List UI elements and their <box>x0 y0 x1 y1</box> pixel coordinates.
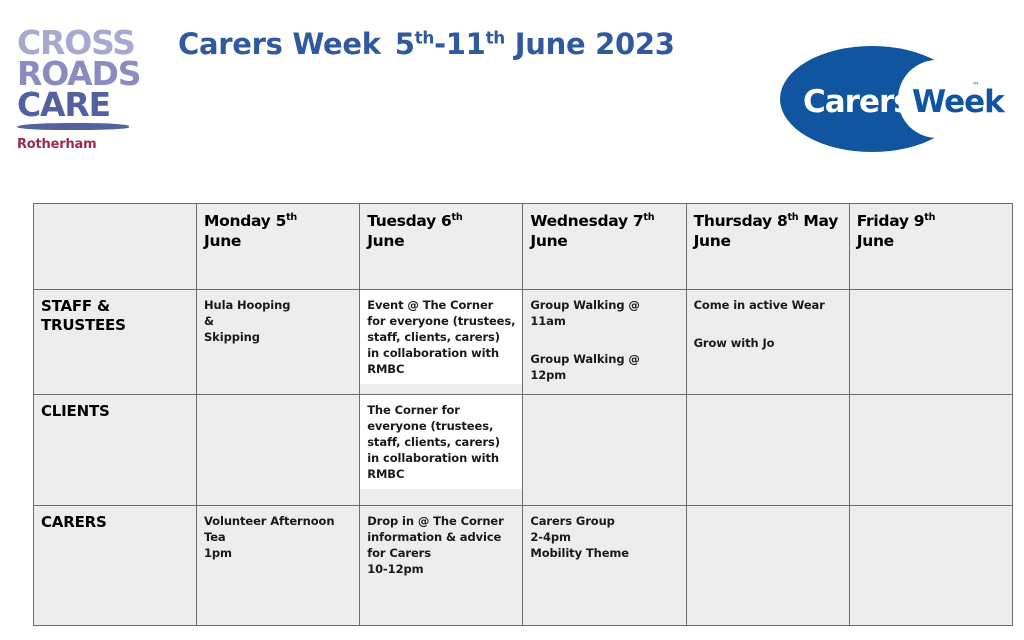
row-category-staff-trustees: STAFF & TRUSTEES <box>34 290 197 395</box>
cell-clients-friday <box>849 395 1012 506</box>
cell-staff-thursday: Come in active Wear Grow with Jo <box>686 290 849 395</box>
cell-text-highlighted: Event @ The Corner for everyone (trustee… <box>360 289 522 384</box>
header-day-month: June <box>857 232 894 250</box>
page-title-main: Carers Week <box>178 27 381 61</box>
cell-carers-wednesday: Carers Group 2-4pm Mobility Theme <box>523 506 686 626</box>
cell-text-secondary: Grow with Jo <box>694 336 775 350</box>
header-day-date: 8 <box>777 212 788 230</box>
header-day-month: June <box>367 232 404 250</box>
logo-text-rotherham: Rotherham <box>17 137 157 152</box>
logo-brushstroke-divider <box>17 123 129 130</box>
carers-week-logo-text-carers: Carers <box>803 84 911 120</box>
cell-text-highlighted: The Corner for everyone (trustees, staff… <box>360 394 522 489</box>
header-cell-friday: Friday 9thJune <box>849 204 1012 290</box>
cell-staff-tuesday: Event @ The Corner for everyone (trustee… <box>360 290 523 395</box>
header-day-month: June <box>530 232 567 250</box>
cell-staff-friday <box>849 290 1012 395</box>
header-day-name: Thursday <box>694 212 772 230</box>
logo-text-care: CARE <box>17 89 157 120</box>
header-cell-thursday: Thursday 8th May June <box>686 204 849 290</box>
header-day-name: Monday <box>204 212 271 230</box>
table-row-clients: CLIENTS The Corner for everyone (trustee… <box>34 395 1013 506</box>
page-title-date-end-ordinal: th <box>486 27 505 47</box>
table-row-carers: CARERS Volunteer Afternoon Tea 1pm Drop … <box>34 506 1013 626</box>
cell-staff-monday: Hula Hooping & Skipping <box>197 290 360 395</box>
cell-carers-monday: Volunteer Afternoon Tea 1pm <box>197 506 360 626</box>
header-day-ordinal: th <box>787 212 798 223</box>
carers-week-logo-text-week: Week <box>912 84 1004 120</box>
header-cell-tuesday: Tuesday 6thJune <box>360 204 523 290</box>
cell-text-secondary: Group Walking @ 12pm <box>530 352 639 382</box>
header-day-ordinal: th <box>643 212 654 223</box>
cell-text: Group Walking @ 11am <box>530 298 639 328</box>
page-title: Carers Week5th-11th June 2023 <box>178 27 675 61</box>
cell-carers-tuesday: Drop in @ The Corner information & advic… <box>360 506 523 626</box>
page-title-date-tail: June 2023 <box>505 27 675 61</box>
header-day-date: 7 <box>633 212 644 230</box>
carers-week-logo: Carers Week ™ <box>760 38 1000 160</box>
row-category-clients: CLIENTS <box>34 395 197 506</box>
header-day-date: 9 <box>914 212 925 230</box>
cell-text: Carers Group 2-4pm Mobility Theme <box>530 514 629 560</box>
header-day-name: Wednesday <box>530 212 627 230</box>
table-header-row: Monday 5thJune Tuesday 6thJune Wednesday… <box>34 204 1013 290</box>
header-cell-blank <box>34 204 197 290</box>
cell-text: Volunteer Afternoon Tea 1pm <box>204 514 334 560</box>
header-cell-wednesday: Wednesday 7thJune <box>523 204 686 290</box>
page-title-date-start-ordinal: th <box>415 27 434 47</box>
cell-clients-tuesday: The Corner for everyone (trustees, staff… <box>360 395 523 506</box>
cell-spacer <box>530 329 678 351</box>
cell-spacer <box>694 313 842 335</box>
carers-week-schedule-table: Monday 5thJune Tuesday 6thJune Wednesday… <box>33 203 1013 626</box>
crossroads-care-logo: CROSS ROADS CARE Rotherham <box>17 27 157 160</box>
table-row-staff-trustees: STAFF & TRUSTEES Hula Hooping & Skipping… <box>34 290 1013 395</box>
page-title-date-sep: -11 <box>434 27 486 61</box>
header-cell-monday: Monday 5thJune <box>197 204 360 290</box>
header-day-date: 5 <box>276 212 287 230</box>
cell-text: Drop in @ The Corner information & advic… <box>367 514 504 576</box>
header-day-name: Tuesday <box>367 212 436 230</box>
cell-staff-wednesday: Group Walking @ 11am Group Walking @ 12p… <box>523 290 686 395</box>
header-day-ordinal: th <box>286 212 297 223</box>
page-header: CROSS ROADS CARE Rotherham Carers Week5t… <box>0 0 1024 190</box>
header-day-date: 6 <box>441 212 452 230</box>
cell-carers-friday <box>849 506 1012 626</box>
header-day-month: June <box>204 232 241 250</box>
cell-text: Hula Hooping & Skipping <box>204 298 290 344</box>
cell-text: Come in active Wear <box>694 298 825 312</box>
cell-carers-thursday <box>686 506 849 626</box>
header-day-name: Friday <box>857 212 909 230</box>
header-day-ordinal: th <box>924 212 935 223</box>
header-day-ordinal: th <box>452 212 463 223</box>
trademark-icon: ™ <box>972 81 980 90</box>
cell-clients-wednesday <box>523 395 686 506</box>
cell-clients-monday <box>197 395 360 506</box>
page-title-date-start: 5 <box>395 27 415 61</box>
cell-clients-thursday <box>686 395 849 506</box>
row-category-carers: CARERS <box>34 506 197 626</box>
